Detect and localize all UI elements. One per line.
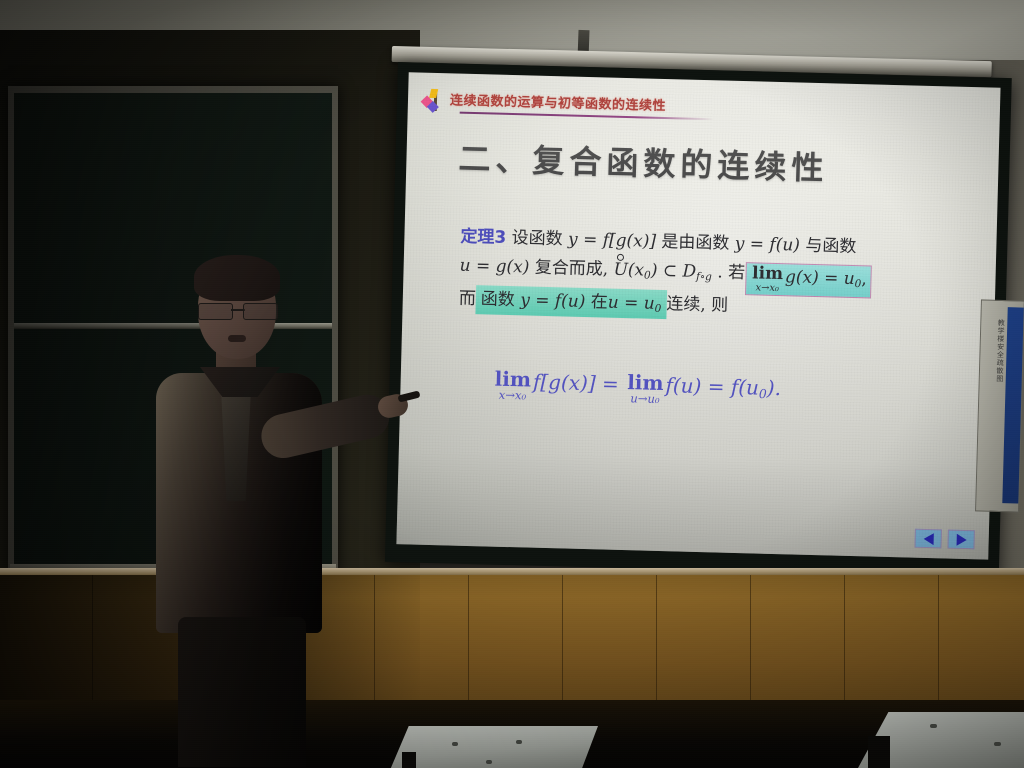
powerpoint-design-logo-icon: [422, 89, 445, 116]
theorem-line2-math-a: u = g(x): [459, 255, 529, 277]
lecturer: [150, 255, 380, 755]
slide-prev-button[interactable]: [914, 529, 941, 549]
theorem-line1-text-c: 与函数: [805, 236, 857, 257]
theorem-block: 定理3 设函数 y = f[g(x)] 是由函数 y = f(u) 与函数 u …: [458, 224, 980, 328]
theorem-line2-text-b: . 若: [717, 262, 745, 283]
theorem-line2-text-a: 复合而成,: [535, 257, 609, 279]
theorem-conclusion: lim x→x₀ f[g(x)] = lim u→u₀ f(u) = f(u0)…: [492, 369, 963, 414]
domain-subscript: f∘g: [696, 270, 712, 282]
chevron-left-icon: [923, 532, 933, 544]
highlight2-math2-subscript: 0: [654, 302, 661, 314]
theorem-line3-text-a: 而: [459, 288, 477, 308]
wall-sign: 教学楼安全疏散图: [975, 299, 1024, 512]
highlight2-text-a: 函数: [481, 289, 516, 310]
highlight2-math: y = f(u): [520, 290, 586, 312]
conclusion-equals-1: =: [602, 371, 619, 395]
conclusion-expr-3: f(u: [731, 375, 760, 400]
screen-surface: 连续函数的运算与初等函数的连续性 二、复合函数的连续性 定理3 设函数 y = …: [396, 72, 1000, 559]
conclusion-expr-2: f(u): [665, 373, 702, 398]
desk-front-leg: [402, 752, 416, 768]
conclusion-equals-2: =: [707, 374, 724, 398]
highlight2-math2: u = u: [608, 292, 655, 313]
limit-operator-1: lim x→x₀: [752, 265, 784, 294]
projection-screen: 连续函数的运算与初等函数的连续性 二、复合函数的连续性 定理3 设函数 y = …: [385, 62, 1012, 578]
slide-next-button[interactable]: [947, 530, 974, 550]
conclusion-expr-3-tail: ).: [767, 376, 782, 400]
theorem-line3-text-b: 连续, 则: [666, 294, 728, 316]
theorem-line1-math-a: y = f[g(x)]: [568, 230, 656, 252]
limit-operator-3: lim u→u₀: [627, 372, 664, 406]
slide-navigation: [914, 529, 974, 550]
conclusion-expr-1: f[g(x)]: [533, 370, 596, 396]
lecture-hall-photo: 连续函数的运算与初等函数的连续性 二、复合函数的连续性 定理3 设函数 y = …: [0, 0, 1024, 768]
wall-sign-text: 教学楼安全疏散图: [987, 319, 1005, 383]
highlight1-trailing: ,: [861, 269, 867, 289]
lecturer-legs: [178, 617, 306, 767]
highlight-continuity-condition: 函数 y = f(u) 在u = u0: [475, 285, 666, 320]
highlight1-body: g(x) = u: [785, 267, 855, 289]
theorem-line1-math-b: y = f(u): [735, 234, 801, 256]
slide: 连续函数的运算与初等函数的连续性 二、复合函数的连续性 定理3 设函数 y = …: [396, 72, 1000, 559]
domain-inclusion: ) ⊂ D: [651, 260, 697, 281]
lecturer-mouth: [228, 335, 246, 342]
deleted-neighborhood-symbol: U(x: [613, 259, 644, 280]
chevron-right-icon: [956, 533, 966, 545]
theorem-line1-text-a: 设函数: [511, 228, 563, 249]
highlight2-text-b: 在: [591, 292, 609, 312]
theorem-label: 定理3: [460, 227, 506, 248]
lecturer-hair: [194, 255, 280, 301]
slide-header-title: 连续函数的运算与初等函数的连续性: [450, 89, 666, 114]
limit-operator-2: lim x→x₀: [494, 369, 531, 403]
student-desk-front: [390, 726, 598, 768]
theorem-line1-text-b: 是由函数: [661, 232, 730, 254]
desk-right-leg: [868, 736, 890, 768]
glasses-icon: [198, 303, 278, 319]
slide-heading: 二、复合函数的连续性: [458, 134, 829, 190]
